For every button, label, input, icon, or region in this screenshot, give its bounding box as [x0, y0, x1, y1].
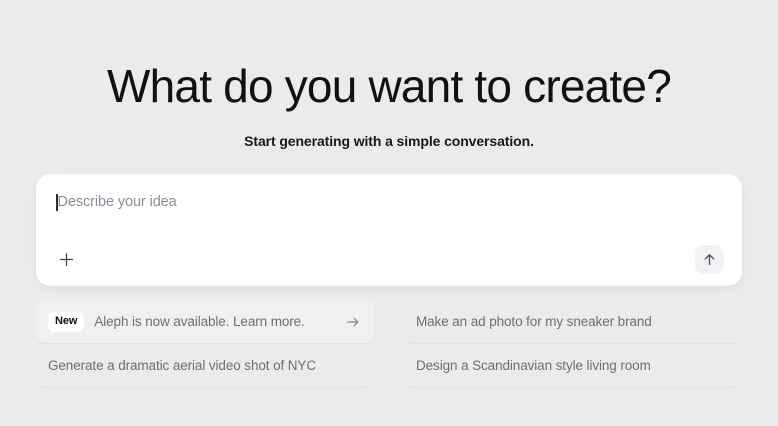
prompt-input-row[interactable]: Describe your idea	[54, 192, 724, 212]
suggestion-grid: New Aleph is now available. Learn more. …	[36, 300, 742, 388]
arrow-up-icon	[702, 252, 717, 267]
status-badge: New	[48, 312, 84, 332]
send-prompt-button[interactable]	[695, 245, 724, 274]
add-attachment-button[interactable]	[53, 246, 79, 272]
page-title: What do you want to create?	[107, 61, 671, 111]
suggestion-item-nyc-video[interactable]: Generate a dramatic aerial video shot of…	[36, 344, 374, 388]
suggestion-label: Design a Scandinavian style living room	[416, 357, 651, 375]
suggestion-label: Aleph is now available. Learn more.	[94, 313, 304, 331]
suggestion-item-announcement[interactable]: New Aleph is now available. Learn more.	[36, 300, 374, 344]
suggestion-item-living-room[interactable]: Design a Scandinavian style living room	[404, 344, 742, 388]
arrow-right-icon	[344, 313, 362, 331]
create-page: What do you want to create? Start genera…	[0, 0, 778, 426]
suggestion-label: Generate a dramatic aerial video shot of…	[48, 357, 316, 375]
suggestion-item-sneaker-ad[interactable]: Make an ad photo for my sneaker brand	[404, 300, 742, 344]
composer-toolbar	[54, 244, 724, 274]
prompt-composer[interactable]: Describe your idea	[36, 174, 742, 286]
prompt-input-placeholder[interactable]: Describe your idea	[58, 192, 177, 212]
page-subtitle: Start generating with a simple conversat…	[244, 132, 534, 150]
suggestion-label: Make an ad photo for my sneaker brand	[416, 313, 652, 331]
plus-icon	[59, 252, 74, 267]
